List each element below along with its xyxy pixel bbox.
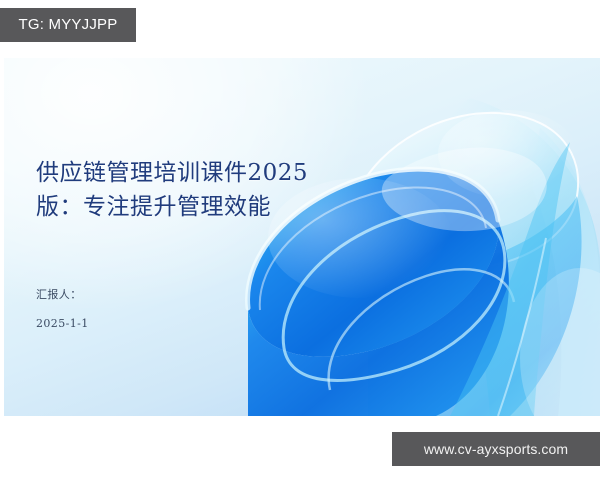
slide-date: 2025-1-1 [36,316,336,332]
tag-badge: TG: MYYJJPP [0,8,136,42]
slide-meta: 汇报人： 2025-1-1 [36,286,336,332]
site-watermark: www.cv-ayxsports.com [392,432,600,466]
page-title: 供应链管理培训课件2025 版：专注提升管理效能 [36,156,336,224]
presenter-label: 汇报人： [36,286,336,304]
slide-canvas: 供应链管理培训课件2025 版：专注提升管理效能 汇报人： 2025-1-1 [4,58,600,416]
slide-text-block: 供应链管理培训课件2025 版：专注提升管理效能 汇报人： 2025-1-1 [36,156,336,332]
